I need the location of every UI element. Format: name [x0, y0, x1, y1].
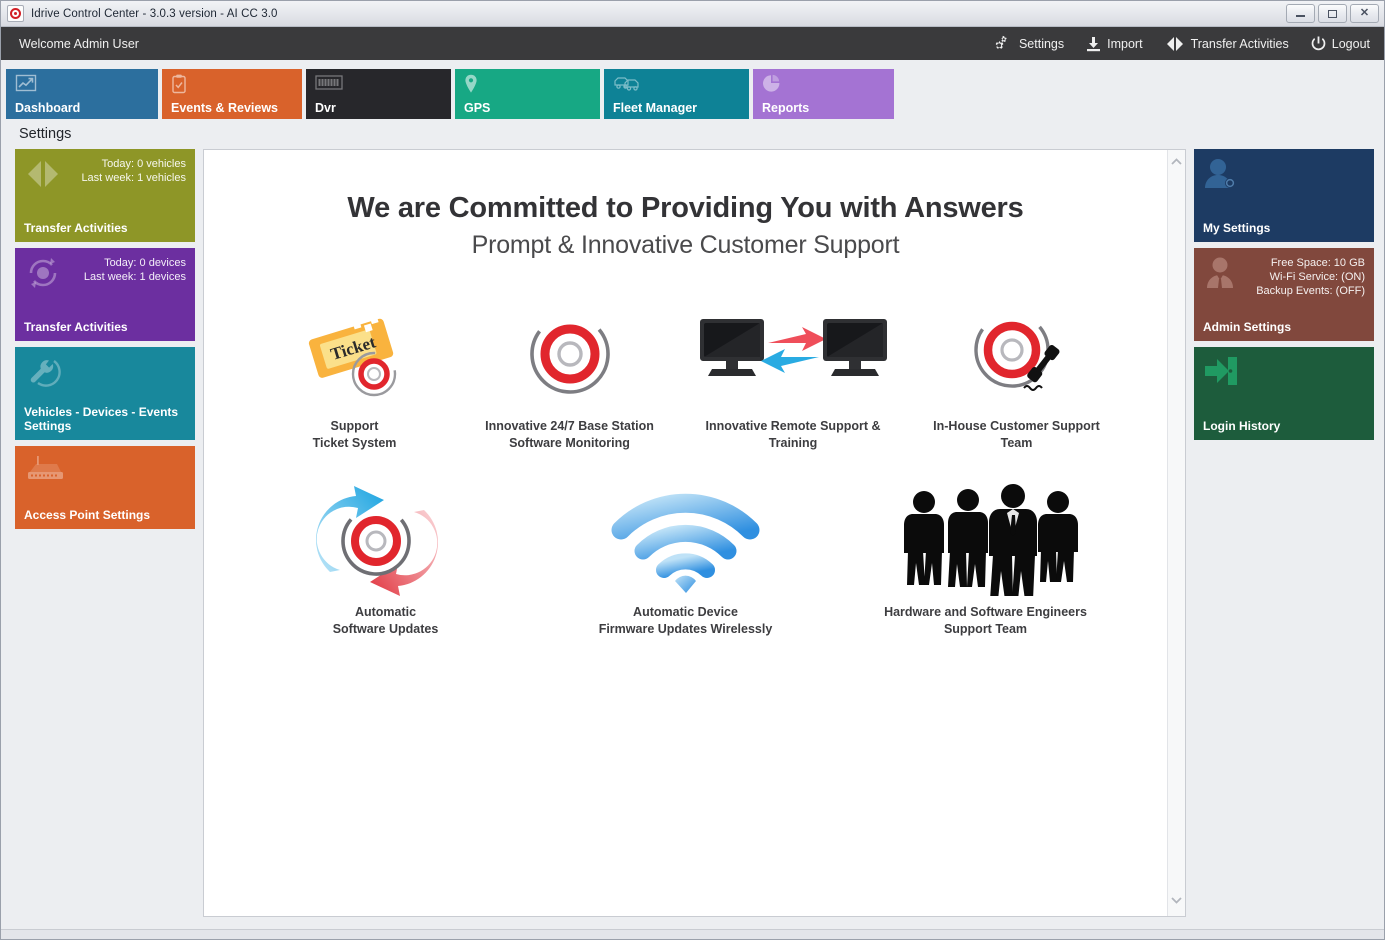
feature-base-station-monitoring: Innovative 24/7 Base Station Software Mo… [462, 298, 677, 452]
feature-engineers-support-team: Hardware and Software Engineers Support … [836, 484, 1136, 638]
map-pin-icon [464, 74, 592, 94]
sync-device-icon [24, 256, 64, 295]
tab-fleet-manager[interactable]: Fleet Manager [604, 69, 749, 119]
tile-label: Transfer Activities [24, 320, 186, 334]
tab-gps[interactable]: GPS [455, 69, 600, 119]
base-station-target-icon [462, 298, 677, 410]
tile-my-settings[interactable]: My Settings [1194, 149, 1374, 242]
tab-events-reviews[interactable]: Events & Reviews [162, 69, 302, 119]
tile-stats: Today: 0 vehicles Last week: 1 vehicles [81, 157, 186, 185]
tile-stat-line: Today: 0 devices [84, 256, 186, 270]
tab-reports[interactable]: Reports [753, 69, 894, 119]
left-tile-column: Today: 0 vehicles Last week: 1 vehicles … [15, 149, 195, 917]
chart-trend-icon [15, 74, 150, 94]
welcome-text: Welcome Admin User [19, 37, 139, 51]
close-button[interactable]: ✕ [1350, 4, 1379, 23]
feature-support-ticket-system: Ticket Support Ticket System [247, 298, 462, 452]
feature-firmware-updates-wirelessly: Automatic Device Firmware Updates Wirele… [536, 484, 836, 638]
feature-caption: Automatic Device Firmware Updates Wirele… [536, 604, 836, 638]
hero-heading: We are Committed to Providing You with A… [204, 192, 1167, 225]
tile-label: Vehicles - Devices - Events Settings [24, 405, 186, 433]
content-scroll-area: We are Committed to Providing You with A… [204, 150, 1167, 916]
tile-admin-settings[interactable]: Free Space: 10 GB Wi-Fi Service: (ON) Ba… [1194, 248, 1374, 341]
tile-label: Transfer Activities [24, 221, 186, 235]
tile-label: My Settings [1203, 221, 1365, 235]
clipboard-check-icon [171, 74, 294, 94]
maximize-button[interactable] [1318, 4, 1347, 23]
main-tabbar: Dashboard Events & Reviews [1, 60, 1384, 119]
feature-remote-support-training: Innovative Remote Support & Training [677, 298, 909, 452]
feature-in-house-support-team: In-House Customer Support Team [909, 298, 1124, 452]
hero-section: We are Committed to Providing You with A… [204, 192, 1167, 260]
remote-support-monitors-icon [677, 298, 909, 410]
wifi-signal-icon [536, 484, 836, 596]
scroll-up-arrow-icon[interactable] [1171, 157, 1182, 168]
tile-transfer-activities-vehicles[interactable]: Today: 0 vehicles Last week: 1 vehicles … [15, 149, 195, 242]
tile-stats: Free Space: 10 GB Wi-Fi Service: (ON) Ba… [1256, 256, 1365, 298]
tile-access-point-settings[interactable]: Access Point Settings [15, 446, 195, 529]
tile-stat-line: Free Space: 10 GB [1256, 256, 1365, 270]
dvr-icon [315, 74, 443, 94]
status-bar [1, 929, 1384, 939]
header-logout-button[interactable]: Logout [1311, 36, 1370, 52]
feature-caption: In-House Customer Support Team [909, 418, 1124, 452]
login-door-icon [1203, 355, 1243, 392]
header-import-label: Import [1107, 37, 1142, 51]
right-tile-column: My Settings Free Space: 10 GB Wi- [1194, 149, 1374, 917]
tile-stat-line: Today: 0 vehicles [81, 157, 186, 171]
tab-reports-label: Reports [762, 101, 886, 119]
page-title: Settings [19, 126, 71, 142]
window-controls: ✕ [1286, 4, 1382, 23]
tile-stats: Today: 0 devices Last week: 1 devices [84, 256, 186, 284]
tab-fleet-manager-label: Fleet Manager [613, 101, 741, 119]
gears-icon [993, 35, 1013, 52]
tab-gps-label: GPS [464, 101, 592, 119]
content-panel: We are Committed to Providing You with A… [203, 149, 1186, 917]
tile-label: Admin Settings [1203, 320, 1365, 334]
support-phone-target-icon [909, 298, 1124, 410]
header-settings-label: Settings [1019, 37, 1064, 51]
fleet-vehicles-icon [613, 74, 741, 94]
hero-subheading: Prompt & Innovative Customer Support [204, 231, 1167, 260]
header-actions: Settings Import Transf [993, 35, 1370, 52]
minimize-button[interactable] [1286, 4, 1315, 23]
pie-chart-icon [762, 74, 886, 94]
wrench-icon [24, 355, 64, 394]
header-transfer-label: Transfer Activities [1191, 37, 1289, 51]
header-transfer-activities-button[interactable]: Transfer Activities [1165, 36, 1289, 52]
tab-dashboard[interactable]: Dashboard [6, 69, 158, 119]
tab-dvr[interactable]: Dvr [306, 69, 451, 119]
app-header: Welcome Admin User Settings [1, 27, 1384, 60]
title-bar: Idrive Control Center - 3.0.3 version - … [1, 1, 1384, 27]
main-body: Today: 0 vehicles Last week: 1 vehicles … [1, 149, 1384, 929]
tile-stat-line: Last week: 1 devices [84, 270, 186, 284]
header-logout-label: Logout [1332, 37, 1370, 51]
transfer-arrows-icon [1165, 36, 1185, 52]
feature-caption: Hardware and Software Engineers Support … [836, 604, 1136, 638]
tab-dvr-label: Dvr [315, 101, 443, 119]
tile-transfer-activities-devices[interactable]: Today: 0 devices Last week: 1 devices Tr… [15, 248, 195, 341]
tile-stat-line: Backup Events: (OFF) [1256, 284, 1365, 298]
tile-login-history[interactable]: Login History [1194, 347, 1374, 440]
header-settings-button[interactable]: Settings [993, 35, 1064, 52]
app-logo-icon [7, 5, 24, 22]
transfer-arrows-icon [24, 157, 64, 196]
user-gear-icon [1203, 157, 1243, 196]
app-window: Idrive Control Center - 3.0.3 version - … [0, 0, 1385, 940]
support-ticket-icon: Ticket [247, 298, 462, 410]
power-icon [1311, 36, 1326, 52]
router-icon [24, 454, 64, 489]
feature-automatic-software-updates: Automatic Software Updates [236, 484, 536, 638]
features-row-1: Ticket Support Ticket System [204, 298, 1167, 470]
header-import-button[interactable]: Import [1086, 36, 1142, 52]
tile-label: Login History [1203, 419, 1365, 433]
tile-label: Access Point Settings [24, 508, 186, 522]
tile-vehicles-devices-events-settings[interactable]: Vehicles - Devices - Events Settings [15, 347, 195, 440]
page-title-bar: Settings [1, 119, 1384, 149]
admin-user-icon [1203, 256, 1243, 295]
feature-caption: Innovative 24/7 Base Station Software Mo… [462, 418, 677, 452]
scroll-down-arrow-icon[interactable] [1171, 896, 1182, 907]
auto-update-arrows-icon [236, 484, 536, 596]
tab-dashboard-label: Dashboard [15, 101, 150, 119]
download-icon [1086, 36, 1101, 52]
tile-stat-line: Wi-Fi Service: (ON) [1256, 270, 1365, 284]
tab-events-reviews-label: Events & Reviews [171, 101, 294, 119]
feature-caption: Automatic Software Updates [236, 604, 536, 638]
features-row-2: Automatic Software Updates [204, 484, 1167, 656]
engineers-team-icon [836, 484, 1136, 596]
tile-stat-line: Last week: 1 vehicles [81, 171, 186, 185]
feature-caption: Innovative Remote Support & Training [677, 418, 909, 452]
window-title: Idrive Control Center - 3.0.3 version - … [31, 8, 278, 20]
content-scrollbar[interactable] [1167, 150, 1185, 916]
feature-caption: Support Ticket System [247, 418, 462, 452]
